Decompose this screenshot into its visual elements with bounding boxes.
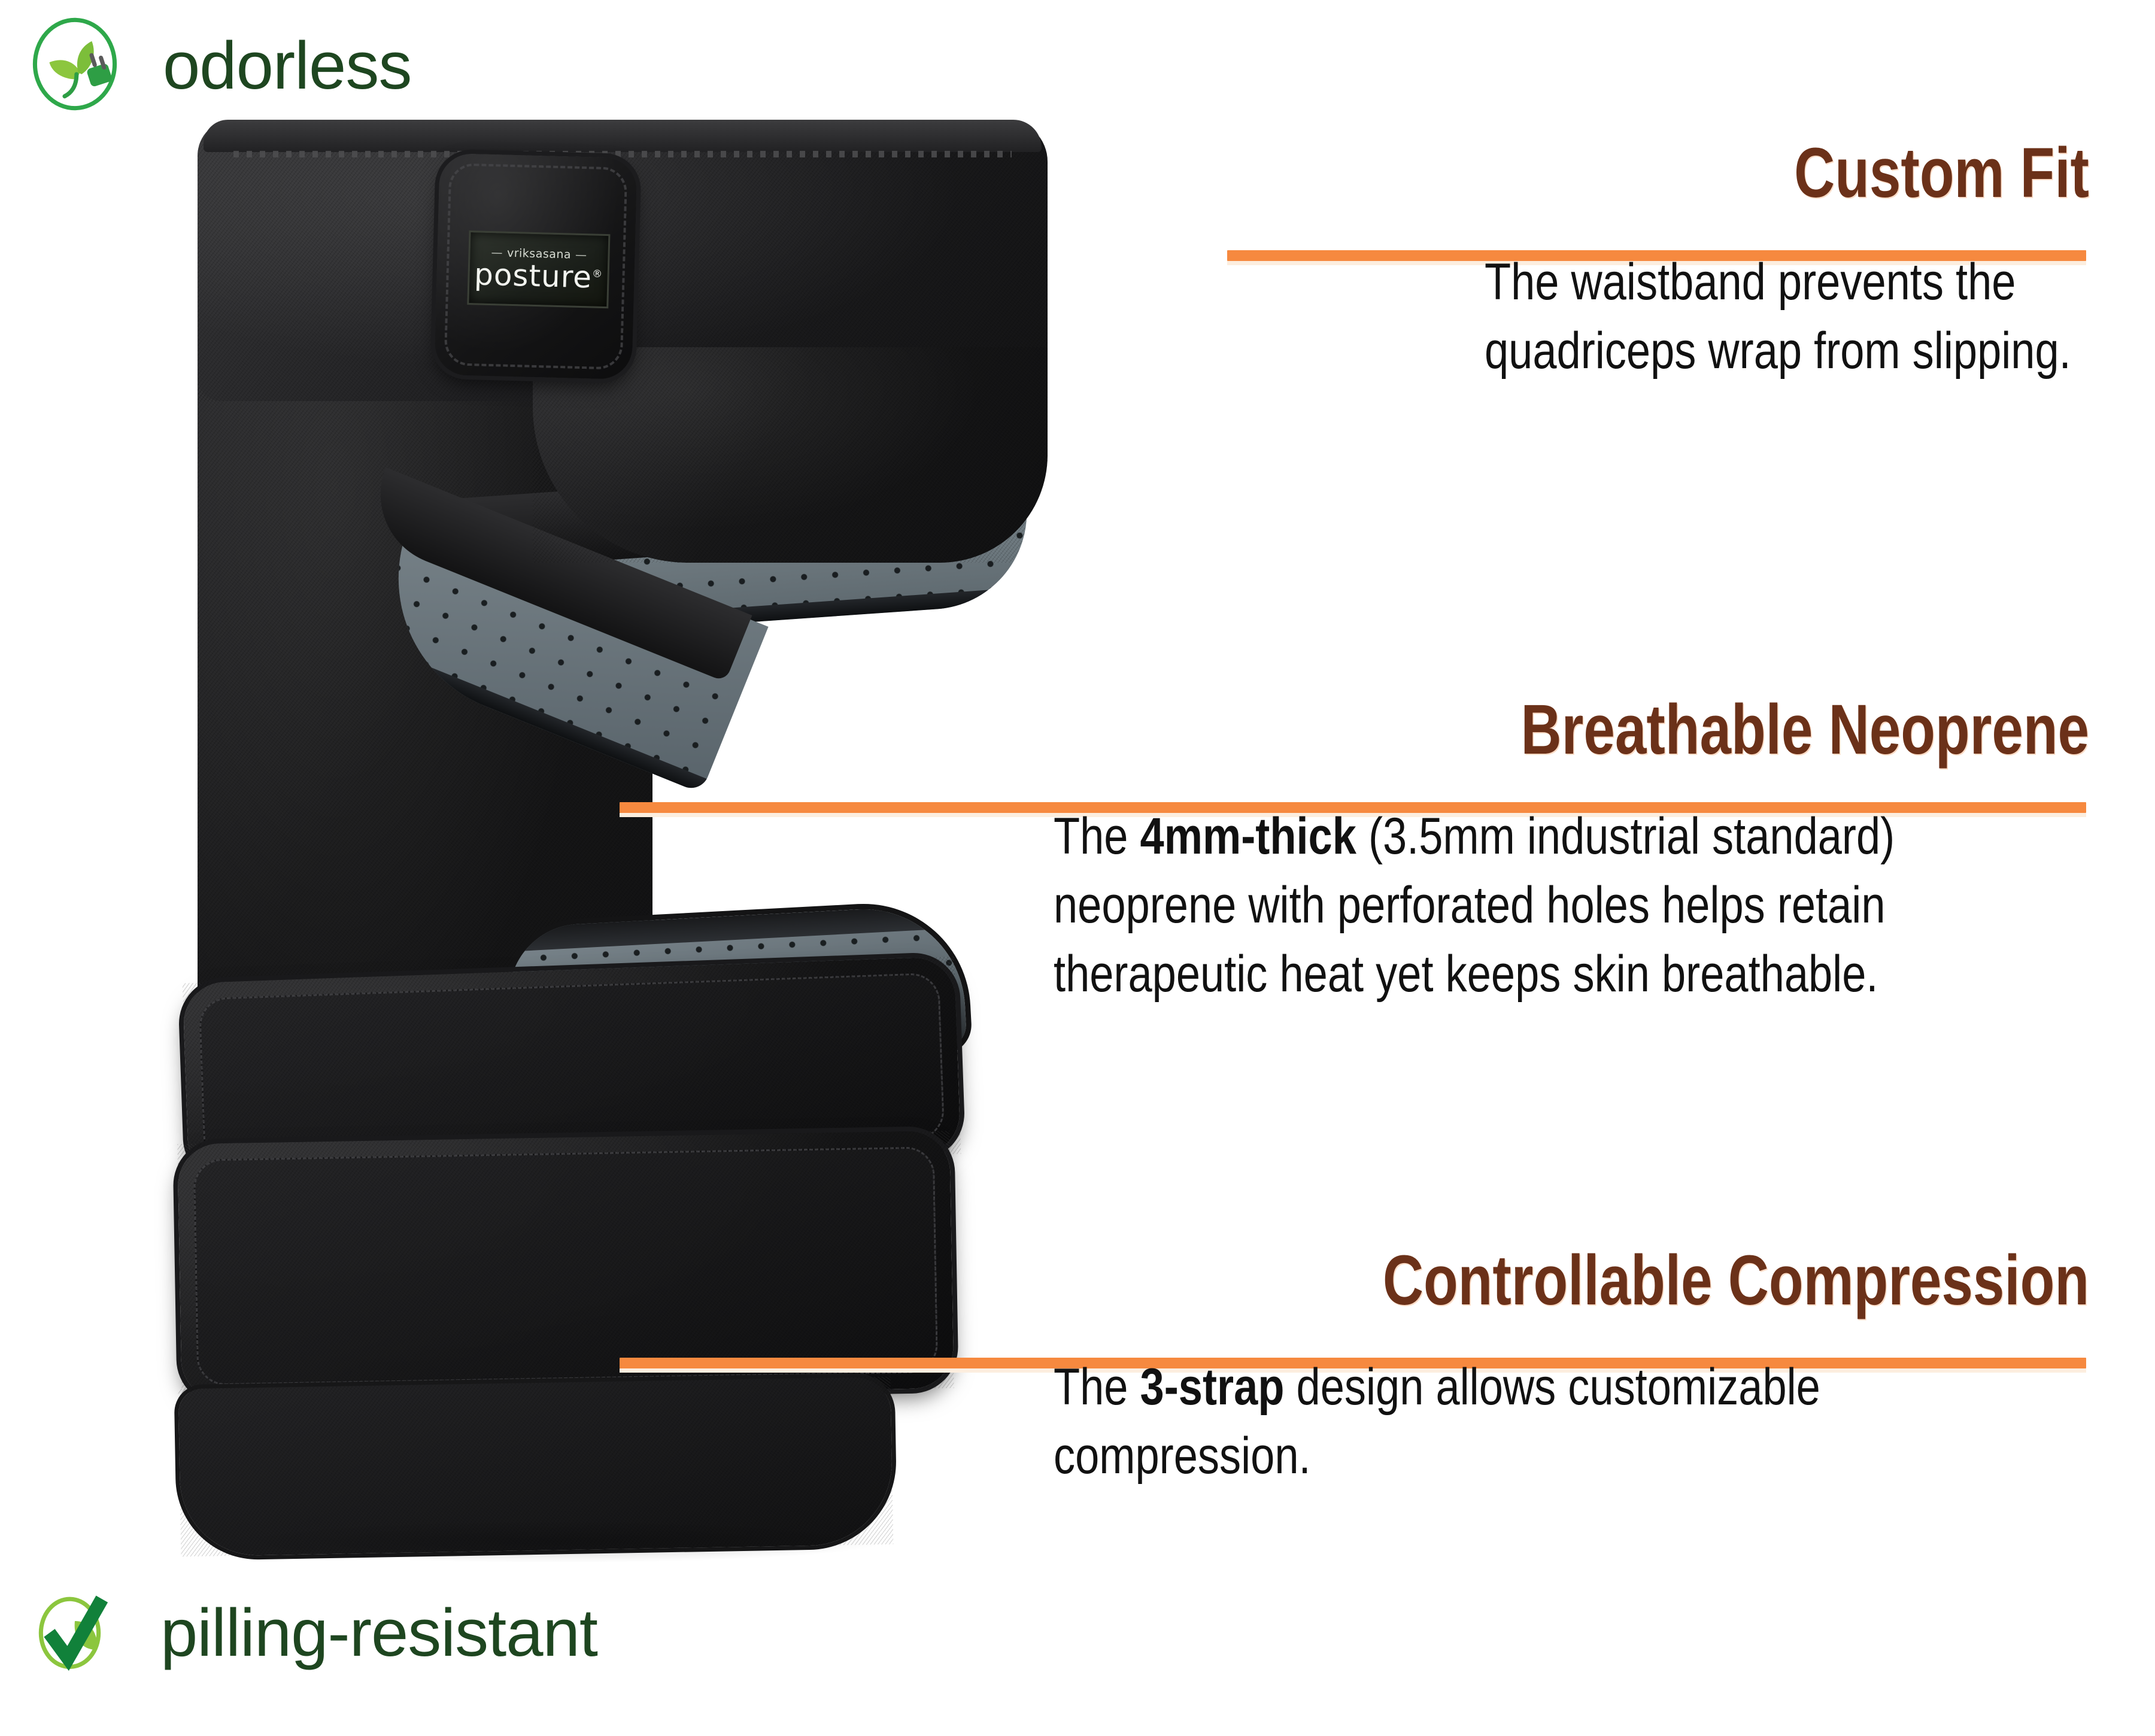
feature-controllable-compression: Controllable Compression The 3-strap des…: [1054, 1245, 2089, 1491]
waistband-lower-sweep: [533, 347, 1048, 563]
feature-body-controllable-compression: The 3-strap design allows customizable c…: [1054, 1353, 2089, 1491]
check-leaf-icon: [24, 1580, 126, 1685]
feature-breathable-neoprene: Breathable Neoprene The 4mm-thick (3.5mm…: [1054, 694, 2089, 1009]
feature-body-text: The waistband prevents the quadriceps wr…: [1485, 253, 2071, 380]
product-part-velcro-flap: —vriksasana— posture®: [434, 153, 638, 380]
badge-label-pilling-resistant: pilling-resistant: [160, 1594, 597, 1671]
waistband-stitching: [233, 151, 1012, 157]
feature-body-emphasis-straps: 3-strap: [1140, 1358, 1285, 1416]
product-drop-shadow: [233, 1520, 880, 1562]
badge-pilling-resistant: pilling-resistant: [24, 1580, 597, 1685]
feature-body-emphasis-thickness: 4mm-thick: [1140, 808, 1356, 865]
feature-heading-custom-fit: Custom Fit: [1605, 138, 2089, 208]
feature-body-text-pre: The: [1054, 1358, 1140, 1416]
waistband-top-edge: [204, 120, 1042, 152]
brand-label-wordmark: posture®: [474, 259, 603, 293]
feature-body-custom-fit: The waistband prevents the quadriceps wr…: [1485, 248, 2088, 386]
brand-label-trademark: ®: [592, 268, 603, 280]
feature-body-breathable-neoprene: The 4mm-thick (3.5mm industrial standard…: [1054, 802, 2089, 1009]
brand-label-word-text: posture: [474, 257, 592, 295]
infographic-canvas: —vriksasana— posture® Custom Fit The wai…: [0, 0, 2155, 1736]
badge-label-odorless: odorless: [163, 27, 411, 104]
brand-label: —vriksasana— posture®: [467, 230, 610, 308]
feature-custom-fit: Custom Fit The waistband prevents the qu…: [1485, 138, 2089, 386]
feature-body-text-pre: The: [1054, 808, 1140, 865]
feature-heading-controllable-compression: Controllable Compression: [1261, 1245, 2089, 1316]
feature-heading-breathable-neoprene: Breathable Neoprene: [1261, 694, 2089, 765]
leaf-plug-icon: [24, 13, 126, 118]
badge-odorless: odorless: [24, 13, 411, 118]
